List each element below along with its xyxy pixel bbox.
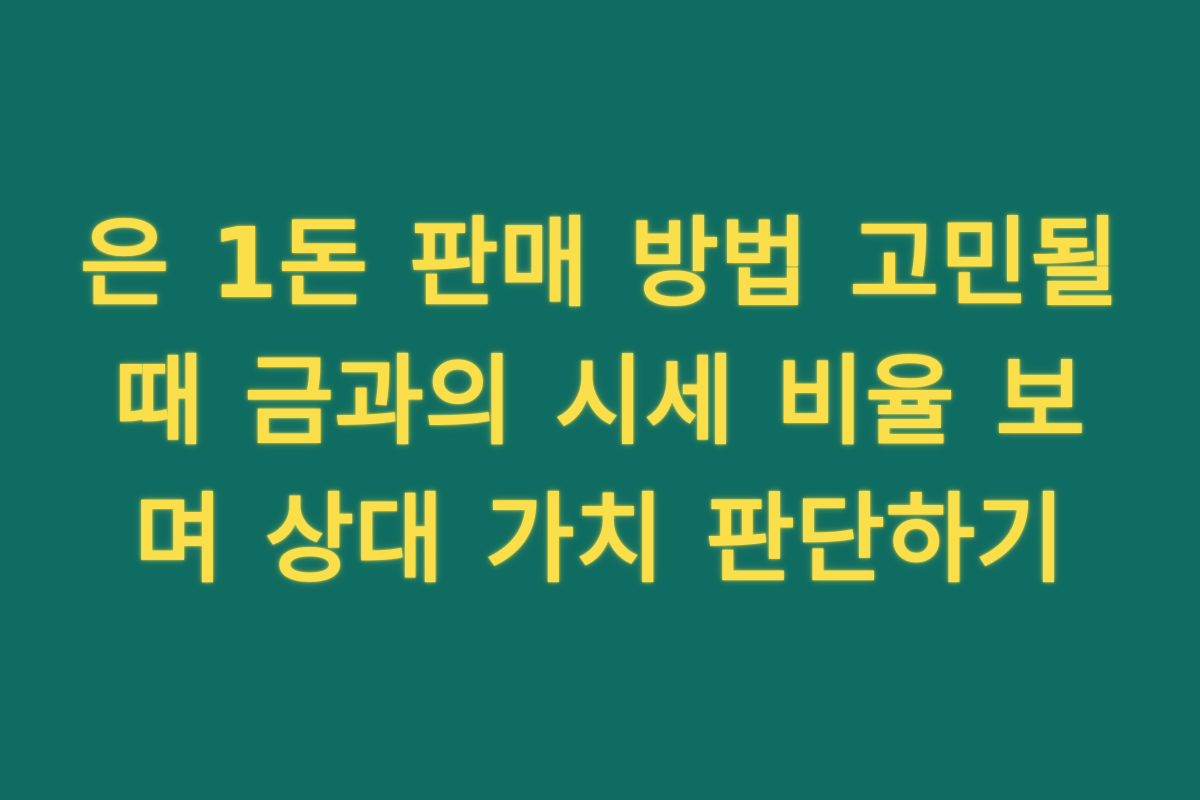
- headline-line-3: 며 상대 가치 판단하기: [50, 471, 1150, 609]
- thumbnail-canvas: 은 1돈 판매 방법 고민될 때 금과의 시세 비율 보 며 상대 가치 판단하…: [0, 0, 1200, 800]
- headline-line-2: 때 금과의 시세 비율 보: [50, 333, 1150, 471]
- headline-line-1: 은 1돈 판매 방법 고민될: [50, 195, 1150, 333]
- headline-text-block: 은 1돈 판매 방법 고민될 때 금과의 시세 비율 보 며 상대 가치 판단하…: [50, 195, 1150, 608]
